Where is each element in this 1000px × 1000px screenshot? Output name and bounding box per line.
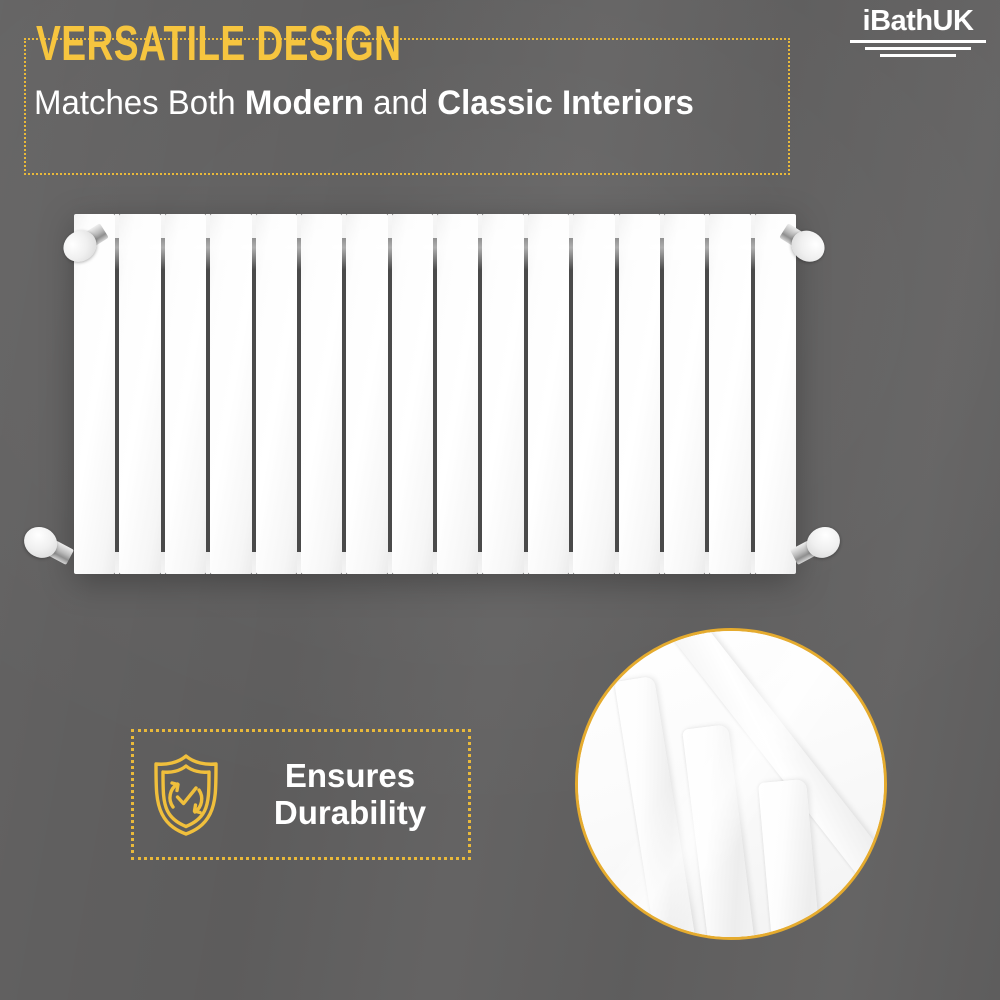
product-radiator: [74, 214, 796, 574]
radiator-blade: [682, 724, 767, 940]
headline-title: VERSATILE DESIGN: [36, 20, 401, 69]
radiator-fin: [210, 214, 251, 574]
brand-underline-1: [850, 40, 986, 43]
radiator-valve-bottom-right: [789, 518, 849, 577]
brand-wordmark: iBathUK: [850, 6, 986, 36]
brand-logo: iBathUK: [850, 6, 986, 57]
radiator-fin: [256, 214, 297, 574]
feature-badge-durability: Ensures Durability: [131, 729, 471, 860]
radiator-fin: [346, 214, 387, 574]
subtitle-part-3: Classic Interiors: [437, 84, 694, 122]
radiator-fin: [119, 214, 160, 574]
radiator-fin: [709, 214, 750, 574]
shield-refresh-check-icon: [134, 752, 238, 838]
radiator-fin: [301, 214, 342, 574]
radiator-fin-stack: [74, 214, 796, 574]
radiator-fin: [392, 214, 433, 574]
radiator-fin: [619, 214, 660, 574]
marketing-banner: iBathUK VERSATILE DESIGN Matches Both Mo…: [0, 0, 1000, 1000]
closeup-photo: [578, 631, 884, 937]
radiator-fin: [165, 214, 206, 574]
radiator-fin: [528, 214, 569, 574]
radiator-fin: [755, 214, 796, 574]
radiator-valve-bottom-left: [15, 518, 75, 577]
radiator-fin: [664, 214, 705, 574]
detail-closeup-circle: [575, 628, 887, 940]
radiator-fin: [573, 214, 614, 574]
subtitle-part-0: Matches Both: [34, 84, 245, 122]
subtitle-part-1: Modern: [245, 84, 364, 122]
headline-subtitle: Matches Both Modern and Classic Interior…: [34, 86, 694, 120]
radiator-fin: [482, 214, 523, 574]
feature-badge-label: Ensures Durability: [238, 758, 468, 832]
brand-underline-3: [880, 54, 956, 57]
subtitle-part-2: and: [364, 84, 437, 122]
radiator-fin: [437, 214, 478, 574]
feature-badge-line-2: Durability: [238, 795, 462, 832]
brand-underline-2: [865, 47, 971, 50]
feature-badge-line-1: Ensures: [238, 758, 462, 795]
